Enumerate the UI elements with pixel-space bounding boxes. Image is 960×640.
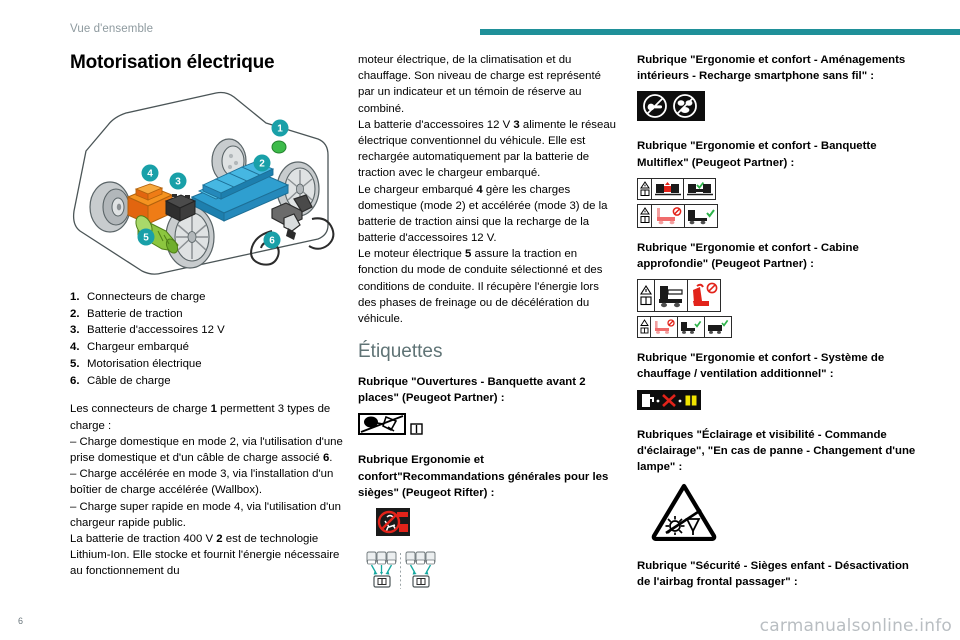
uv-lamp-warning-triangle-label-icon [651, 483, 717, 546]
svg-text:5: 5 [143, 232, 149, 243]
no-refuelling-read-manual-label-icon [637, 390, 701, 415]
list-item: 6. Câble de charge [70, 373, 350, 390]
rubric-heading: Rubrique Ergonomie et confort"Recommanda… [358, 452, 620, 501]
wheel-rear-left [90, 182, 130, 232]
header-rule [480, 29, 960, 35]
list-item: 5. Motorisation électrique [70, 356, 350, 373]
rubric-heading: Rubrique "Ergonomie et confort - Banquet… [637, 138, 922, 170]
list-item: 1. Connecteurs de charge [70, 289, 350, 306]
callout-5: 5 [138, 228, 155, 245]
onboard-charger-part [128, 184, 172, 224]
callout-6: 6 [264, 231, 281, 248]
label-group-seat-recommendations [376, 508, 620, 541]
paragraph: – Charge accélérée en mode 3, via l'inst… [70, 466, 350, 498]
list-item: 4. Chargeur embarqué [70, 339, 350, 356]
section-title-etiquettes: Étiquettes [358, 341, 620, 364]
parts-item-number: 1. [70, 289, 87, 306]
parts-item-label: Câble de charge [87, 373, 171, 390]
parts-item-number: 5. [70, 356, 87, 373]
rubric-heading: Rubrique "Ergonomie et confort - Cabine … [637, 240, 922, 272]
svg-text:4: 4 [147, 168, 153, 179]
paragraph: Les connecteurs de charge 1 permettent 3… [70, 401, 350, 433]
parts-item-label: Connecteurs de charge [87, 289, 205, 306]
parts-item-label: Batterie de traction [87, 306, 183, 323]
column-left: Motorisation électrique [70, 52, 350, 579]
svg-text:1: 1 [277, 123, 283, 134]
parts-item-label: Batterie d'accessoires 12 V [87, 322, 225, 339]
paragraph: – Charge super rapide en mode 4, via l'u… [70, 499, 350, 531]
paragraph: moteur électrique, de la climatisation e… [358, 52, 620, 117]
paragraph: La batterie de traction 400 V 2 est de t… [70, 531, 350, 580]
paragraph: – Charge domestique en mode 2, via l'uti… [70, 434, 350, 466]
page-number: 6 [18, 616, 23, 626]
parts-item-number: 2. [70, 306, 87, 323]
svg-text:2: 2 [259, 158, 265, 169]
no-objects-on-seat-label-icon [358, 413, 406, 440]
parts-item-label: Motorisation électrique [87, 356, 202, 373]
label-group-seating-diagram [366, 551, 620, 598]
extended-cab-seat-warning-label-icon [637, 279, 721, 312]
label-group-multiflex-1 [637, 178, 922, 200]
rubric-heading: Rubriques "Éclairage et visibilité - Com… [637, 427, 922, 476]
multiflex-bench-folding-label-icon [637, 204, 718, 228]
column-right: Rubrique "Ergonomie et confort - Aménage… [637, 52, 922, 597]
list-item: 2. Batterie de traction [70, 306, 350, 323]
label-group-additional-heater [637, 390, 922, 415]
label-group-wireless-charging [637, 91, 922, 126]
seat-belt-airbag-seating-diagram-icon [366, 551, 436, 593]
multiflex-bench-seat-load-label-icon [637, 178, 716, 200]
svg-text:6: 6 [269, 235, 275, 246]
read-manual-booklet-icon [410, 422, 423, 440]
rubric-heading: Rubrique "Ouvertures - Banquette avant 2… [358, 374, 620, 406]
electric-powertrain-diagram: 1 2 3 4 5 [66, 85, 348, 281]
manual-page: Vue d'ensemble Motorisation électrique [0, 0, 960, 640]
extended-cab-load-positions-label-icon [637, 316, 732, 338]
label-group-extended-cab-1 [637, 279, 922, 312]
page-title: Motorisation électrique [70, 52, 350, 75]
label-group-uv-lamp-warning [651, 483, 922, 546]
parts-item-label: Chargeur embarqué [87, 339, 189, 356]
header-section-label: Vue d'ensemble [70, 23, 153, 35]
callout-4: 4 [142, 164, 159, 181]
rubric-heading: Rubrique "Ergonomie et confort - Aménage… [637, 52, 922, 84]
column-middle: moteur électrique, de la climatisation e… [358, 52, 620, 598]
parts-legend-list: 1. Connecteurs de charge 2. Batterie de … [70, 289, 350, 390]
label-group-multiflex-2 [637, 204, 922, 228]
callout-3: 3 [170, 172, 187, 189]
paragraph: Le moteur électrique 5 assure la tractio… [358, 246, 620, 327]
paragraph: La batterie d'accessoires 12 V 3 aliment… [358, 117, 620, 182]
parts-item-number: 6. [70, 373, 87, 390]
callout-2: 2 [254, 154, 271, 171]
paragraph: Le chargeur embarqué 4 gère les charges … [358, 182, 620, 247]
label-group-extended-cab-2 [637, 316, 922, 338]
no-metal-objects-no-cards-wireless-charging-label-icon [637, 91, 705, 126]
site-watermark: carmanualsonline.info [760, 616, 952, 636]
svg-text:3: 3 [175, 176, 181, 187]
no-standing-on-seat-label-icon [376, 508, 410, 541]
charge-connector-part [272, 141, 286, 153]
label-group-banquette-avant [358, 413, 620, 440]
rubric-heading: Rubrique "Ergonomie et confort - Système… [637, 350, 922, 382]
callout-1: 1 [272, 119, 289, 136]
parts-item-number: 3. [70, 322, 87, 339]
list-item: 3. Batterie d'accessoires 12 V [70, 322, 350, 339]
parts-item-number: 4. [70, 339, 87, 356]
rubric-heading: Rubrique "Sécurité - Sièges enfant - Dés… [637, 558, 922, 590]
